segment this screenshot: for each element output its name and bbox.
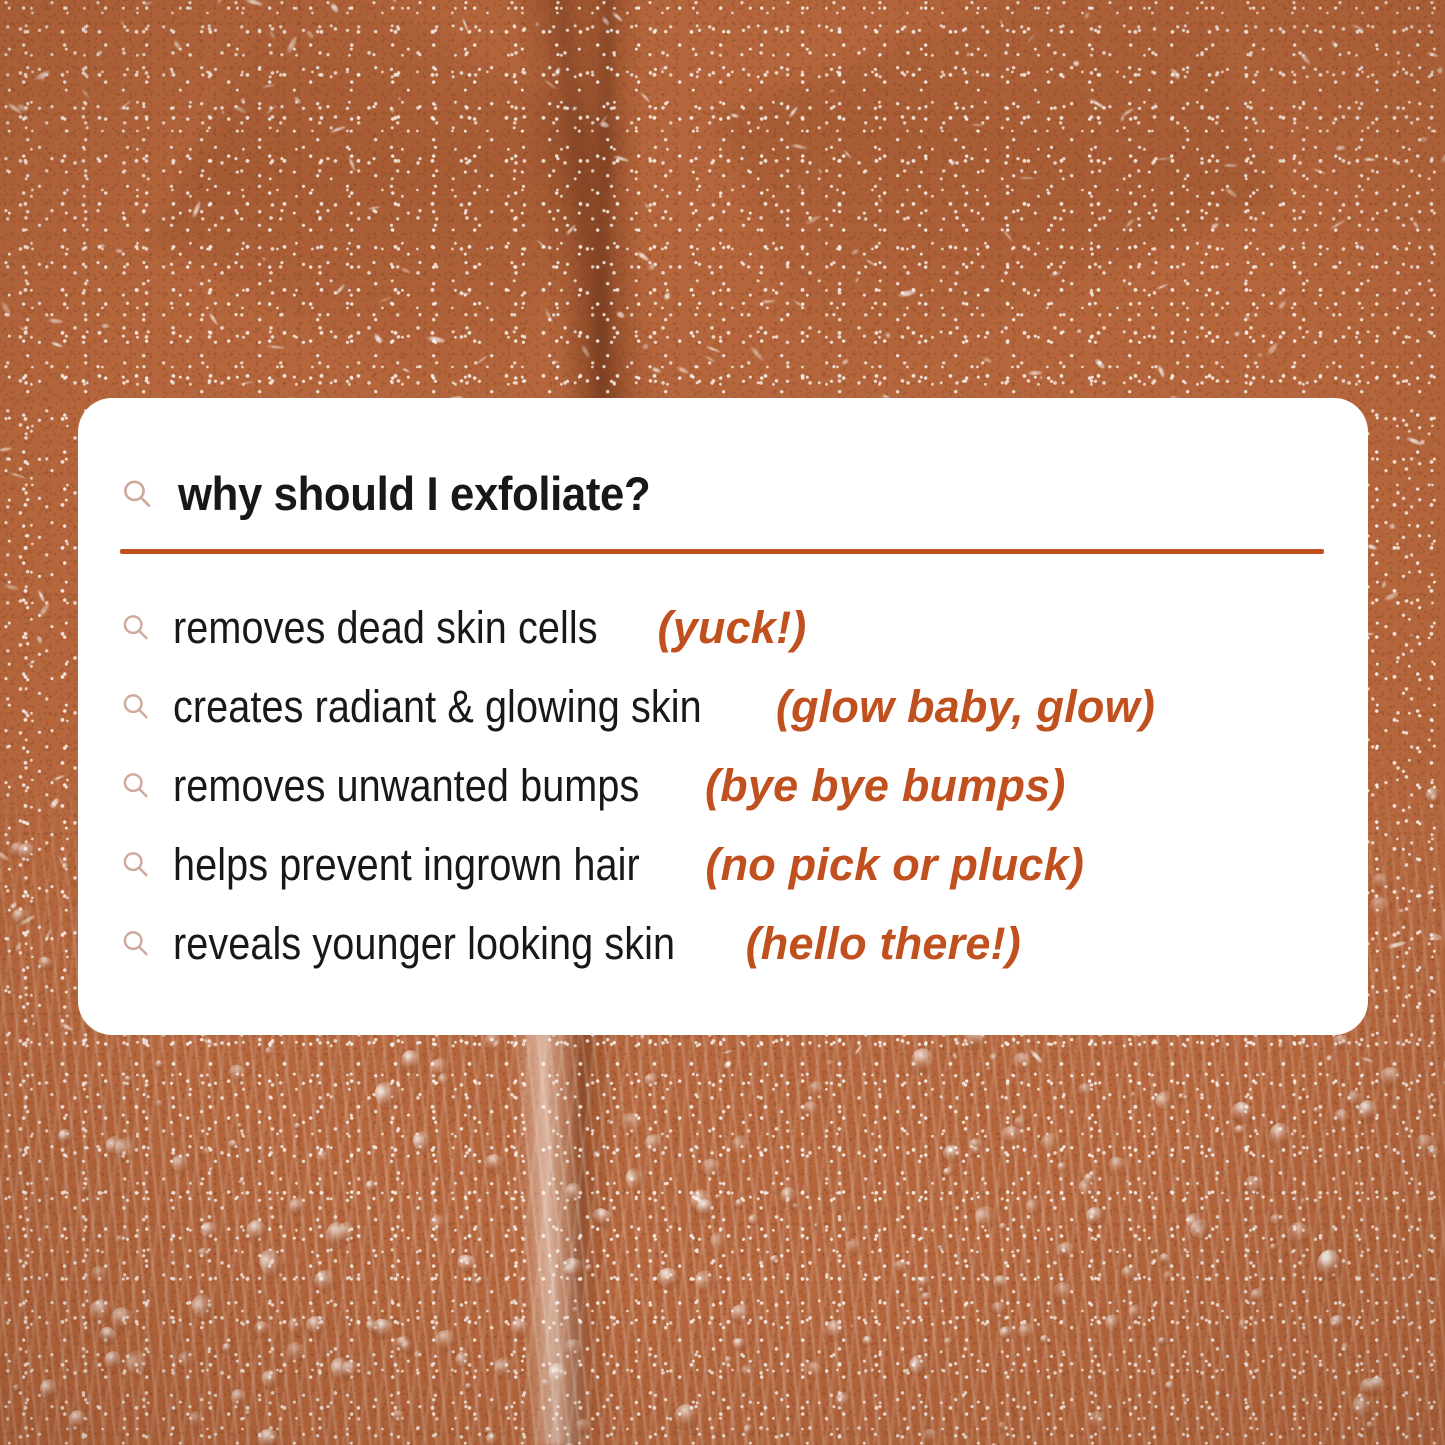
search-icon: [120, 691, 151, 722]
search-icon: [120, 770, 151, 801]
benefit-list: removes dead skin cells(yuck!)creates ra…: [120, 588, 1344, 983]
list-item: removes dead skin cells(yuck!): [120, 588, 1344, 667]
benefit-line: removes unwanted bumps(bye bye bumps): [173, 760, 1066, 812]
page-title: why should I exfoliate?: [178, 470, 650, 517]
search-icon: [120, 928, 151, 959]
promo-graphic: why should I exfoliate? removes dead ski…: [0, 0, 1445, 1445]
search-icon: [120, 612, 151, 643]
search-icon: [120, 849, 151, 880]
benefit-text: helps prevent ingrown hair: [173, 842, 640, 887]
benefit-text: removes unwanted bumps: [173, 763, 639, 808]
benefit-text: creates radiant & glowing skin: [173, 684, 702, 729]
benefit-line: removes dead skin cells(yuck!): [173, 602, 806, 654]
list-item: removes unwanted bumps(bye bye bumps): [120, 746, 1344, 825]
header-divider: [120, 549, 1324, 554]
card-header: why should I exfoliate?: [120, 470, 686, 517]
list-item: creates radiant & glowing skin(glow baby…: [120, 667, 1344, 746]
benefit-aside: (yuck!): [658, 602, 807, 654]
info-card: why should I exfoliate? removes dead ski…: [78, 398, 1368, 1035]
benefit-text: reveals younger looking skin: [173, 921, 675, 966]
benefit-aside: (glow baby, glow): [776, 681, 1155, 733]
list-item: reveals younger looking skin(hello there…: [120, 904, 1344, 983]
benefit-line: helps prevent ingrown hair(no pick or pl…: [173, 839, 1084, 891]
benefit-aside: (bye bye bumps): [705, 760, 1066, 812]
list-item: helps prevent ingrown hair(no pick or pl…: [120, 825, 1344, 904]
benefit-text: removes dead skin cells: [173, 605, 598, 650]
search-icon: [120, 477, 154, 511]
benefit-line: reveals younger looking skin(hello there…: [173, 918, 1021, 970]
benefit-line: creates radiant & glowing skin(glow baby…: [173, 681, 1155, 733]
benefit-aside: (hello there!): [746, 918, 1021, 970]
benefit-aside: (no pick or pluck): [705, 839, 1084, 891]
